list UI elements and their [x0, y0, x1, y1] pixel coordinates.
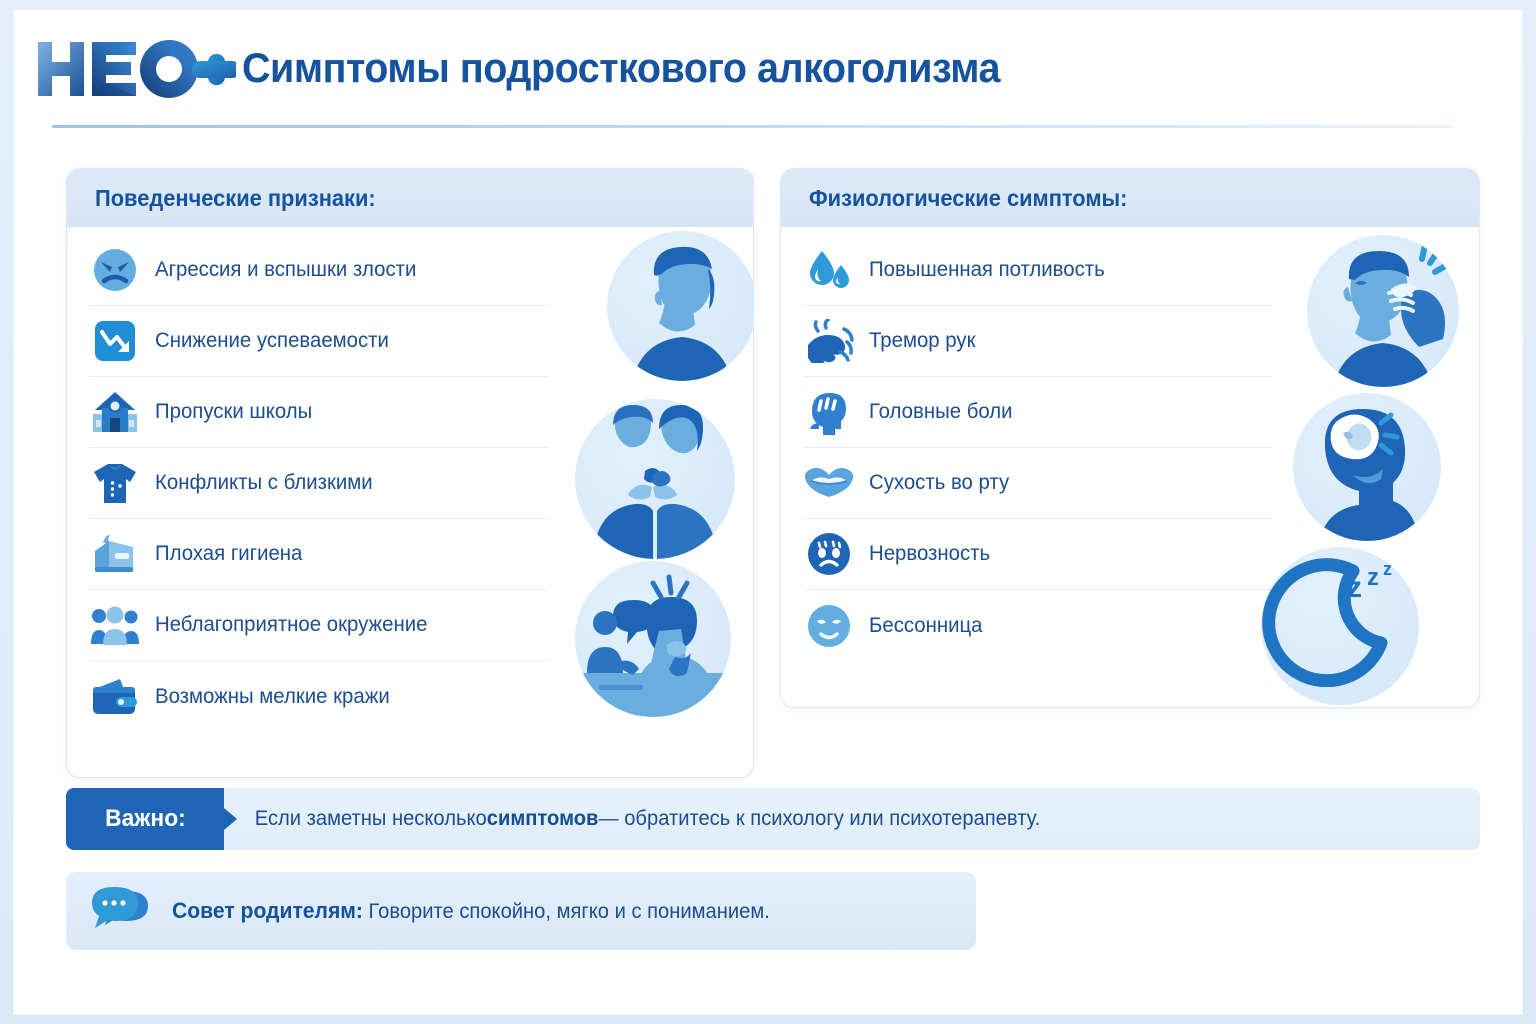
wallet-icon: [89, 671, 141, 723]
list-item-label: Возможны мелкие кражи: [155, 685, 390, 709]
behavioral-item-list: Агрессия и вспышки злости Снижение усп: [89, 235, 549, 732]
svg-text:z: z: [1347, 571, 1362, 604]
anxious-face-icon: [803, 528, 855, 580]
infographic-sheet: Симптомы подросткового алкоголизма Повед…: [14, 10, 1522, 1014]
tip-text: Совет родителям: Говорите спокойно, мягк…: [172, 898, 770, 924]
important-banner: Важно: Если заметны несколько симптомов …: [66, 788, 1480, 850]
header-divider: [52, 125, 1452, 128]
list-item[interactable]: Головные боли: [803, 377, 1273, 448]
soap-icon: [89, 528, 141, 580]
list-item[interactable]: Возможны мелкие кражи: [89, 661, 549, 732]
tip-title: Совет родителям:: [172, 898, 363, 923]
list-item-label: Бессонница: [869, 614, 983, 638]
angry-face-icon: [89, 244, 141, 296]
head-brain-illustration: [1293, 393, 1441, 541]
list-item-label: Агрессия и вспышки злости: [155, 258, 416, 282]
list-item-label: Неблагоприятное окружение: [155, 613, 427, 637]
shaking-hand-icon: [803, 315, 855, 367]
important-text-before: Если заметны несколько: [255, 807, 487, 831]
list-item-label: Повышенная потливость: [869, 258, 1105, 282]
list-item-label: Конфликты с близкими: [155, 471, 373, 495]
panel-physiological-header: Физиологические симптомы:: [781, 169, 1479, 227]
list-item[interactable]: Снижение успеваемости: [89, 306, 549, 377]
neo-plus-logo: [36, 38, 236, 100]
page-title: Симптомы подросткового алкоголизма: [242, 44, 1000, 92]
list-item-label: Плохая гигиена: [155, 542, 302, 566]
list-item-label: Сухость во рту: [869, 471, 1009, 495]
family-conflict-illustration: [575, 399, 735, 559]
list-item[interactable]: Неблагоприятное окружение: [89, 590, 549, 661]
list-item-label: Нервозность: [869, 542, 990, 566]
header: Симптомы подросткового алкоголизма: [14, 10, 1522, 130]
list-item[interactable]: Агрессия и вспышки злости: [89, 235, 549, 306]
list-item[interactable]: Бессонница: [803, 590, 1273, 661]
panel-behavioral-body: Агрессия и вспышки злости Снижение усп: [67, 227, 753, 777]
important-text-bold: симптомов: [487, 807, 599, 831]
infographic-root: Симптомы подросткового алкоголизма Повед…: [0, 0, 1536, 1024]
moon-zzz-illustration: z z z: [1261, 547, 1419, 705]
panel-behavioral: Поведенческие признаки:: [66, 168, 754, 778]
parent-child-talk-illustration: [575, 561, 731, 717]
important-text: Если заметны несколько симптомов — обрат…: [224, 788, 1040, 850]
list-item[interactable]: Сухость во рту: [803, 448, 1273, 519]
list-item[interactable]: Плохая гигиена: [89, 519, 549, 590]
important-text-after: — обратитесь к психологу или психотерапе…: [598, 807, 1040, 831]
sweat-drops-icon: [803, 244, 855, 296]
list-item-label: Пропуски школы: [155, 400, 312, 424]
tshirt-icon: [89, 457, 141, 509]
chart-down-icon: [89, 315, 141, 367]
list-item-label: Тремор рук: [869, 329, 975, 353]
svg-text:z: z: [1383, 559, 1392, 579]
list-item[interactable]: Тремор рук: [803, 306, 1273, 377]
speech-bubbles-icon: [92, 885, 154, 937]
group-people-icon: [89, 599, 141, 651]
list-item[interactable]: Нервозность: [803, 519, 1273, 590]
list-item-label: Снижение успеваемости: [155, 329, 389, 353]
svg-text:z: z: [1367, 564, 1379, 591]
important-tag: Важно:: [66, 788, 224, 850]
headache-person-illustration: [1307, 235, 1459, 387]
school-building-icon: [89, 386, 141, 438]
sleepless-face-icon: [803, 600, 855, 652]
lips-icon: [803, 457, 855, 509]
important-tag-label: Важно:: [105, 805, 186, 833]
physiological-item-list: Повышенная потливость Тремор рук: [803, 235, 1273, 661]
panel-physiological: Физиологические симптомы:: [780, 168, 1480, 708]
teen-boy-portrait-illustration: [607, 231, 754, 381]
panel-behavioral-header: Поведенческие признаки:: [67, 169, 753, 227]
panel-physiological-title: Физиологические симптомы:: [809, 185, 1127, 212]
list-item[interactable]: Повышенная потливость: [803, 235, 1273, 306]
list-item[interactable]: Конфликты с близкими: [89, 448, 549, 519]
panel-behavioral-title: Поведенческие признаки:: [95, 185, 376, 212]
panel-physiological-body: Повышенная потливость Тремор рук: [781, 227, 1479, 707]
tip-banner: Совет родителям: Говорите спокойно, мягк…: [66, 872, 976, 950]
head-pain-icon: [803, 386, 855, 438]
list-item[interactable]: Пропуски школы: [89, 377, 549, 448]
logo-icon: [36, 38, 236, 100]
tip-body: Говорите спокойно, мягко и с пониманием.: [363, 900, 770, 923]
list-item-label: Головные боли: [869, 400, 1013, 424]
